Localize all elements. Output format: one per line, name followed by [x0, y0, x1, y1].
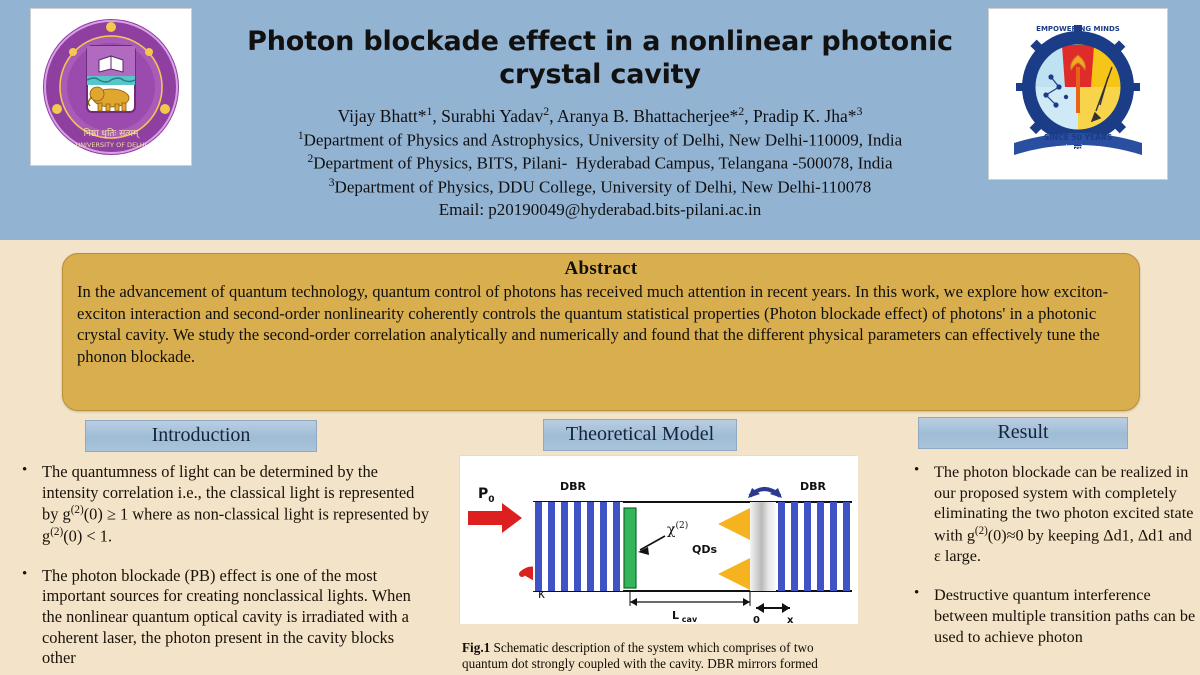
- bits-pilani-seal-icon: EMPOWERING MINDS SINCE 50 YEARS ज्ञानं प…: [996, 15, 1160, 173]
- logo-sanskrit-motto-text: ज्ञानं परमं बलम्: [1056, 144, 1102, 154]
- cavity-schematic-diagram: P0 κ DBR: [460, 456, 858, 624]
- section-header-introduction: Introduction: [85, 420, 317, 452]
- list-item: Destructive quantum interference between…: [906, 585, 1196, 647]
- abstract-section: Abstract In the advancement of quantum t…: [62, 253, 1140, 411]
- affiliation-3: 3Department of Physics, DDU College, Uni…: [180, 175, 1020, 199]
- author-list: Vijay Bhatt*1, Surabhi Yadav2, Aranya B.…: [180, 104, 1020, 128]
- list-item: The photon blockade can be realized in o…: [906, 462, 1196, 567]
- movable-mirror: [750, 502, 776, 591]
- dbr-right-label: DBR: [800, 480, 827, 493]
- introduction-column: The quantumness of light can be determin…: [14, 462, 430, 675]
- logo-tagline-text: EMPOWERING MINDS: [1036, 25, 1120, 33]
- introduction-bullet-list: The quantumness of light can be determin…: [14, 462, 430, 669]
- logo-university-text: UNIVERSITY OF DELHI: [75, 141, 146, 149]
- figure-1-panel: P0 κ DBR: [459, 455, 857, 623]
- figure-1-caption: Fig.1 Schematic description of the syste…: [462, 640, 862, 672]
- dbr-left-stack: [533, 502, 623, 591]
- contact-email: Email: p20190049@hyderabad.bits-pilani.a…: [180, 199, 1020, 221]
- abstract-body: In the advancement of quantum technology…: [77, 281, 1125, 367]
- result-column: The photon blockade can be realized in o…: [906, 462, 1196, 665]
- logo-since-text: SINCE 50 YEARS: [1044, 133, 1112, 142]
- section-header-theoretical-model: Theoretical Model: [543, 419, 737, 451]
- abstract-title: Abstract: [77, 258, 1125, 280]
- result-bullet-list: The photon blockade can be realized in o…: [906, 462, 1196, 647]
- figure-caption-text: Schematic description of the system whic…: [462, 640, 818, 671]
- list-item: The photon blockade (PB) effect is one o…: [14, 566, 430, 669]
- chi2-layer: [624, 508, 636, 588]
- author-block: Vijay Bhatt*1, Surabhi Yadav2, Aranya B.…: [180, 104, 1020, 221]
- qds-label: QDs: [692, 543, 717, 556]
- poster-root: निष्ठा धृतिः सत्यम् UNIVERSITY OF DELHI: [0, 0, 1200, 675]
- section-header-result: Result: [918, 417, 1128, 449]
- origin-label: 0: [753, 615, 760, 624]
- figure-caption-label: Fig.1: [462, 640, 490, 655]
- logo-motto-text: निष्ठा धृतिः सत्यम्: [84, 127, 141, 139]
- poster-header: निष्ठा धृतिः सत्यम् UNIVERSITY OF DELHI: [0, 0, 1200, 240]
- x-axis-label: x: [787, 615, 794, 624]
- list-item: The quantumness of light can be determin…: [14, 462, 430, 548]
- university-of-delhi-logo: निष्ठा धृतिः सत्यम् UNIVERSITY OF DELHI: [30, 8, 192, 166]
- dbr-left-label: DBR: [560, 480, 587, 493]
- affiliation-1: 1Department of Physics and Astrophysics,…: [180, 128, 1020, 152]
- affiliation-2: 2Department of Physics, BITS, Pilani- Hy…: [180, 151, 1020, 175]
- poster-title: Photon blockade effect in a nonlinear ph…: [200, 26, 1000, 92]
- university-of-delhi-seal-icon: निष्ठा धृतिः सत्यम् UNIVERSITY OF DELHI: [37, 14, 185, 160]
